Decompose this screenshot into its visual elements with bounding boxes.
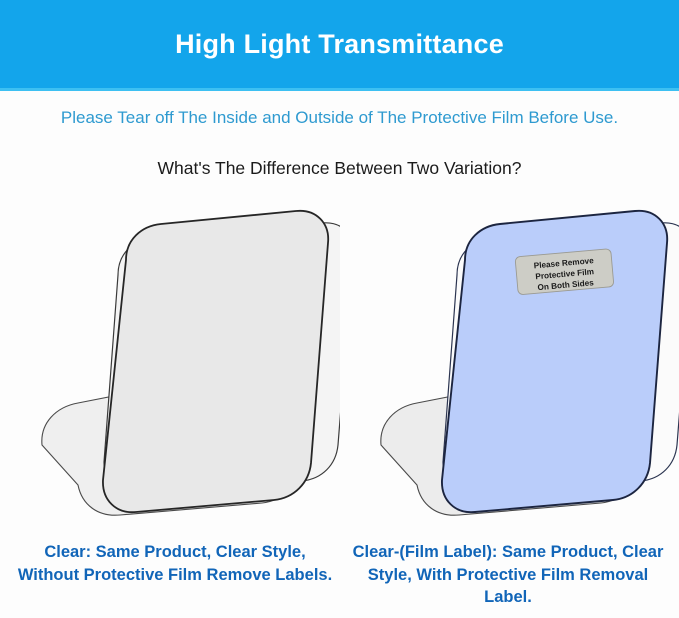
figure-clear-film-label-variation: Please Remove Protective Film On Both Si… xyxy=(339,195,679,525)
page-title: High Light Transmittance xyxy=(175,31,504,58)
figures-row: Please Remove Protective Film On Both Si… xyxy=(0,195,679,525)
product-comparison-infographic: High Light Transmittance Please Tear off… xyxy=(0,0,679,618)
header-banner: High Light Transmittance xyxy=(0,0,679,88)
subtitle-instruction: Please Tear off The Inside and Outside o… xyxy=(0,108,679,128)
header-underline-divider xyxy=(0,88,679,91)
caption-clear-variation: Clear: Same Product, Clear Style, Withou… xyxy=(16,541,334,586)
caption-clear-film-label-variation: Clear-(Film Label): Same Product, Clear … xyxy=(345,541,671,609)
comparison-question: What's The Difference Between Two Variat… xyxy=(0,158,679,179)
protective-film-removal-sticker: Please Remove Protective Film On Both Si… xyxy=(515,249,614,295)
front-sheet-left xyxy=(103,211,328,512)
figure-clear-variation xyxy=(0,195,340,525)
captions-row: Clear: Same Product, Clear Style, Withou… xyxy=(0,541,679,618)
